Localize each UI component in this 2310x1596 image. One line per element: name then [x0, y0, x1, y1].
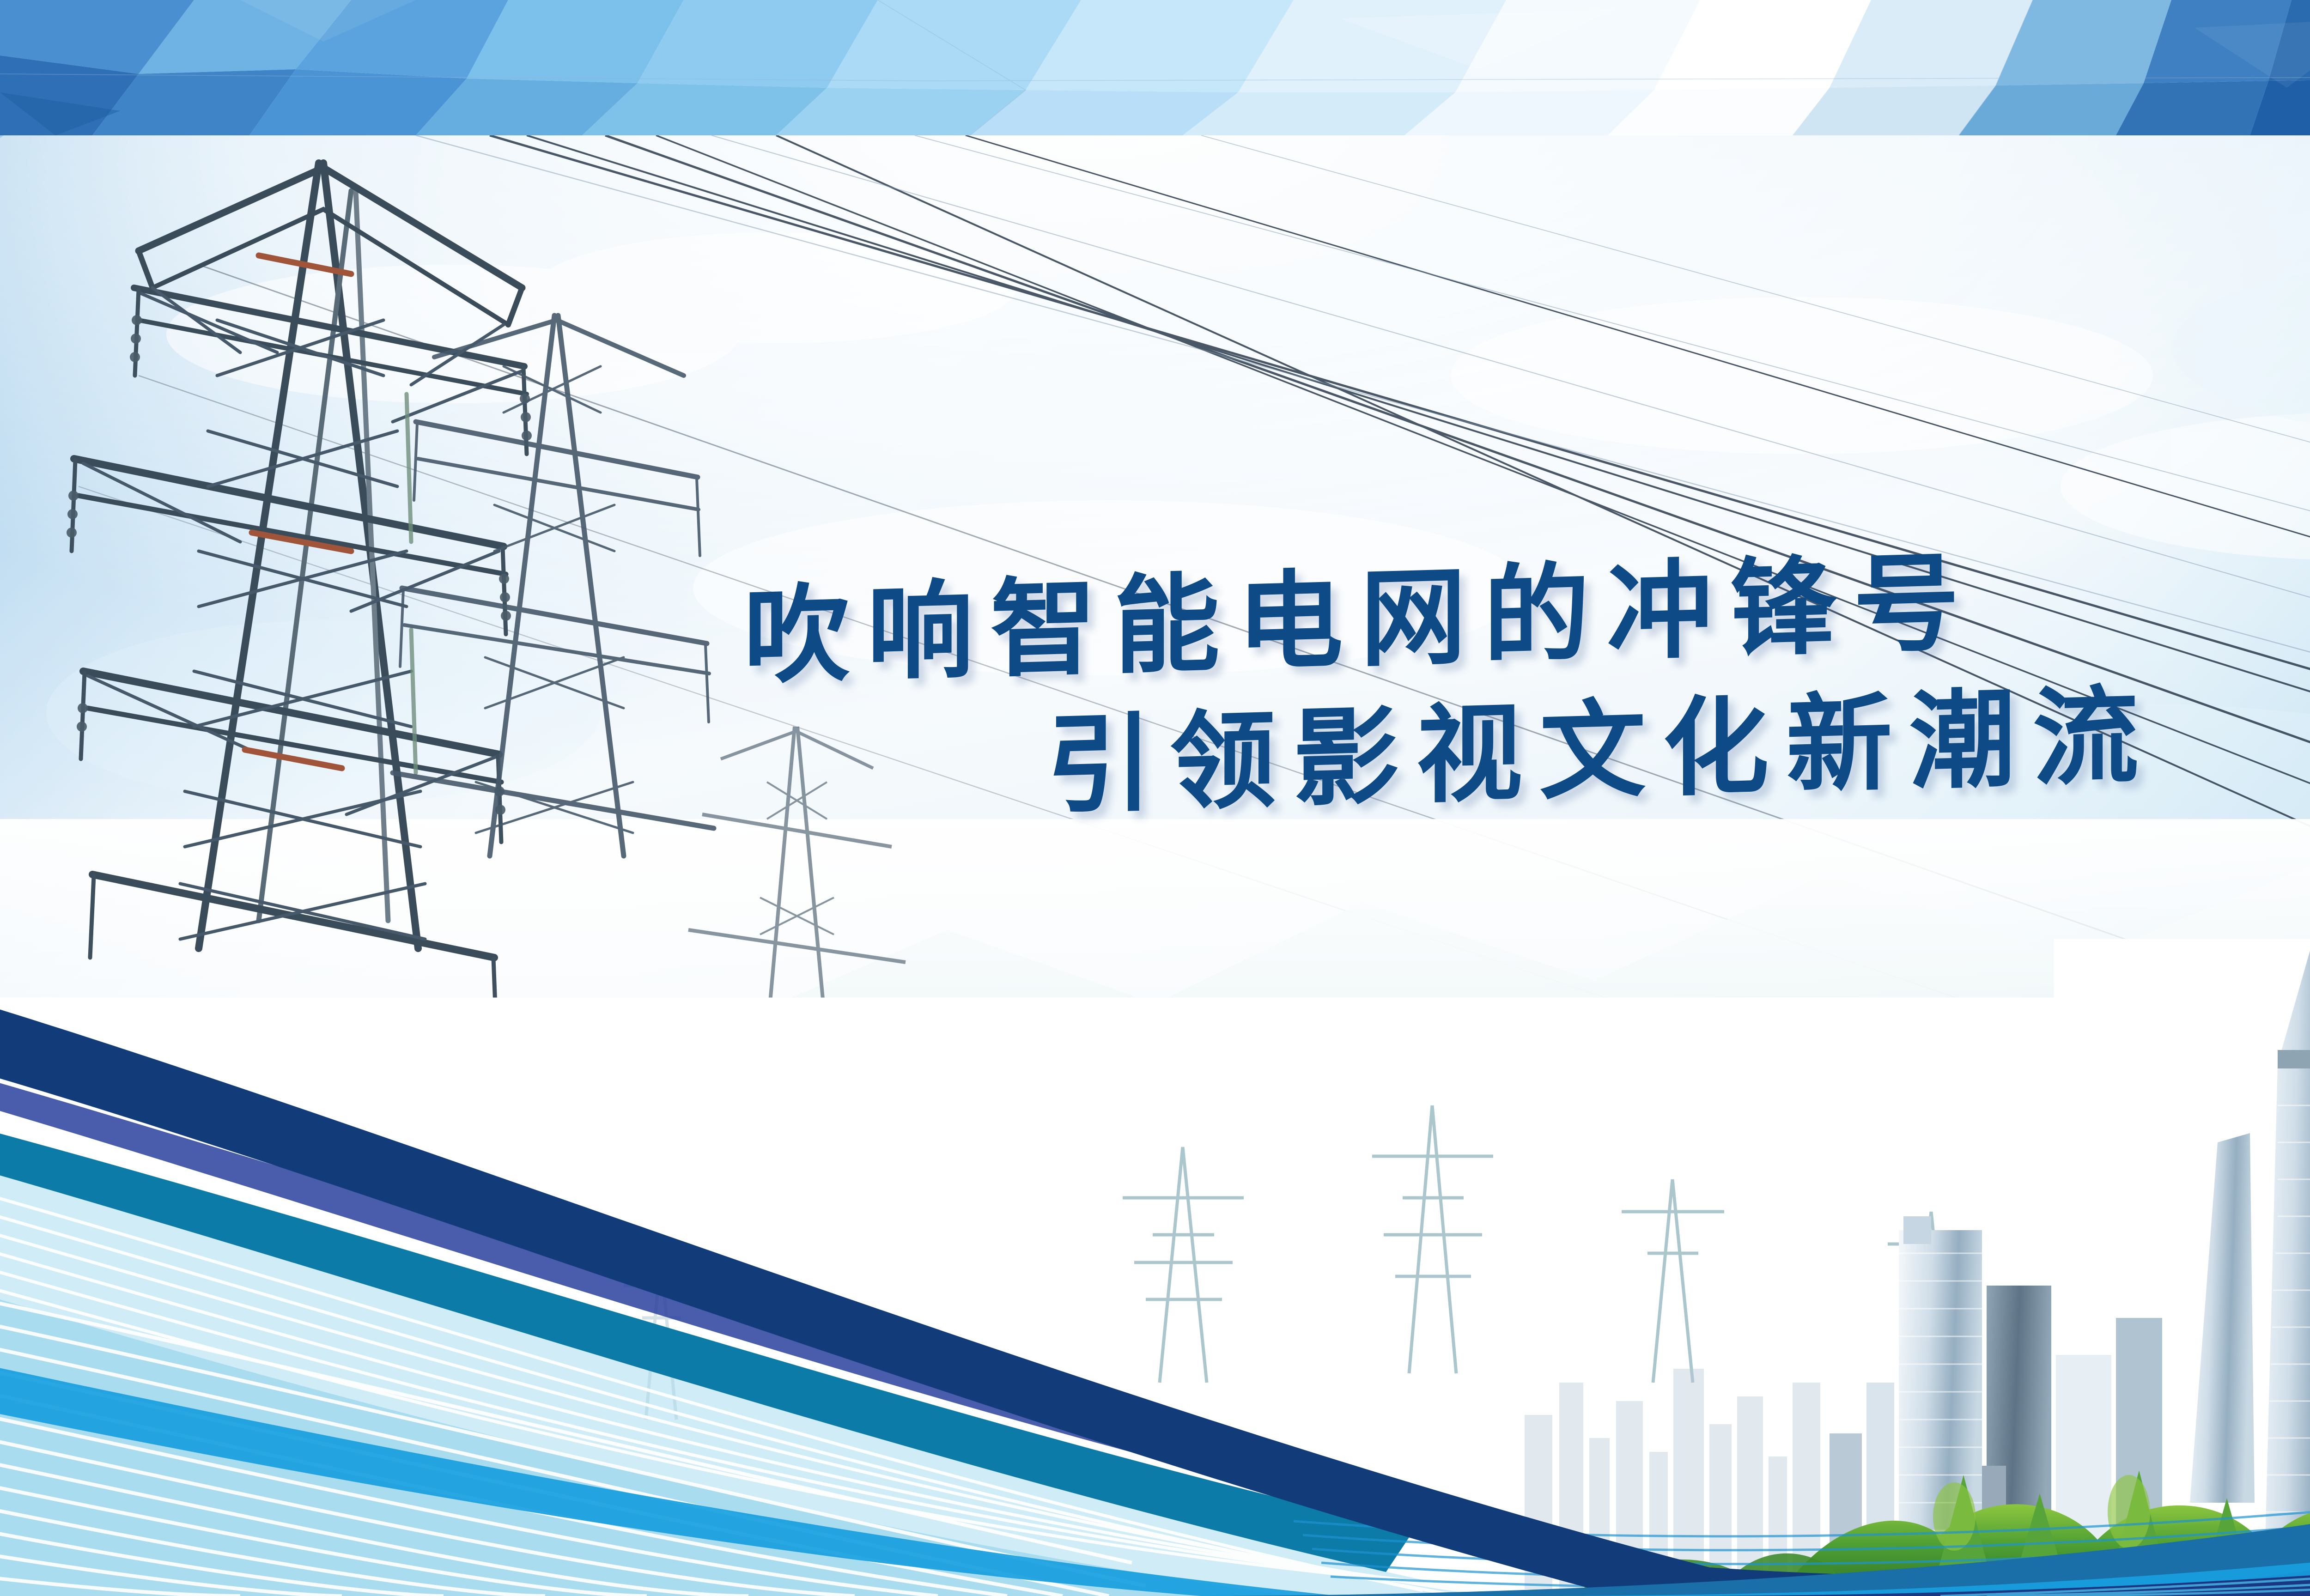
poster-canvas: 吹响智能电网的冲锋号 引领影视文化新潮流 — [0, 0, 2310, 1596]
scene-photograph — [0, 135, 2310, 1596]
poly-triangles — [0, 0, 2310, 135]
low-poly-geometric-band — [0, 0, 2310, 135]
scene-svg — [0, 135, 2310, 1596]
low-poly-svg — [0, 0, 2310, 135]
